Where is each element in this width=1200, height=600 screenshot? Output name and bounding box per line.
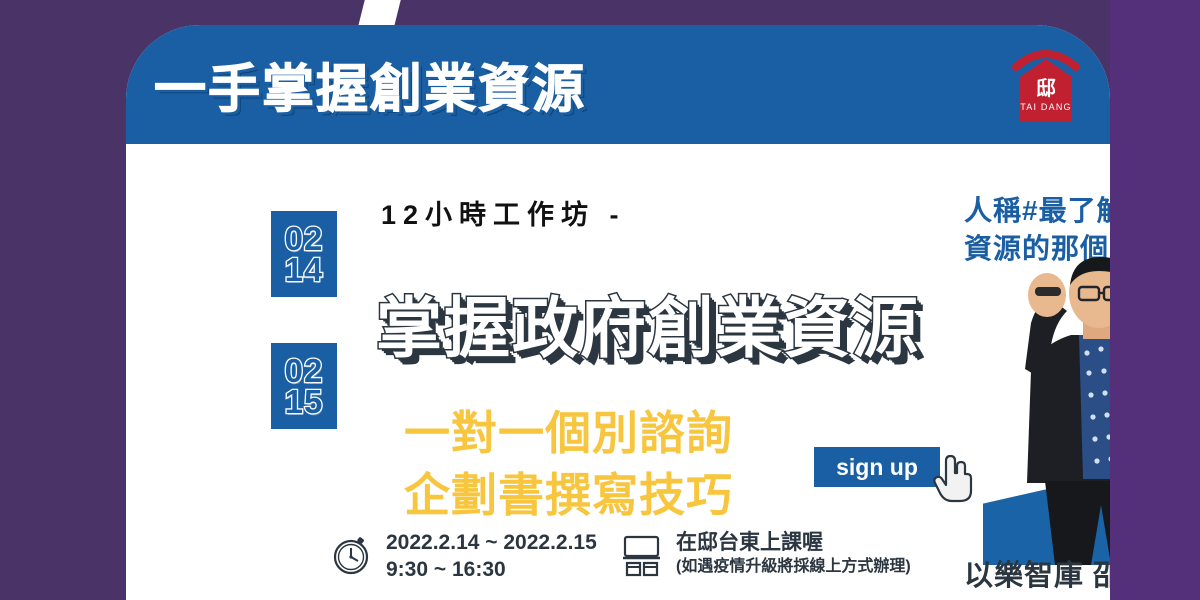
right-purple-stripe <box>1110 0 1200 600</box>
sign-up-button[interactable]: sign up <box>814 447 940 487</box>
tagline-line-1: 人稱#最了解政府 <box>964 189 1110 229</box>
schedule-info-block: 2022.2.14 ~ 2022.2.15 9:30 ~ 16:30 <box>330 530 597 585</box>
poster-card: 一手掌握創業資源 邸 TAI DANG 人稱#最了解政府 資源的那個男人! <box>126 25 1110 600</box>
workshop-kicker: 12小時工作坊 - <box>381 193 626 232</box>
schedule-info-text: 2022.2.14 ~ 2022.2.15 9:30 ~ 16:30 <box>386 530 597 585</box>
feature-line-1: 一對一個別諮詢 <box>404 397 733 463</box>
svg-text:邸: 邸 <box>1036 77 1056 100</box>
classroom-icon <box>620 530 664 580</box>
header-title: 一手掌握創業資源 <box>154 47 586 122</box>
speaker-photo <box>971 253 1110 565</box>
speaker-name: 以樂智庫 邵文正執行長 <box>964 552 1110 594</box>
schedule-hours: 9:30 ~ 16:30 <box>386 556 597 584</box>
venue-note: (如遇疫情升級將採線上方式辦理) <box>676 556 911 578</box>
clock-icon <box>330 530 374 580</box>
venue-info-block: 在邸台東上課喔 (如遇疫情升級將採線上方式辦理) <box>620 530 911 580</box>
classroom-glyph <box>620 530 664 580</box>
promotional-poster: 一手掌握創業資源 邸 TAI DANG 人稱#最了解政府 資源的那個男人! <box>0 0 1200 600</box>
date-badge-month: 02 <box>285 355 324 386</box>
clock-glyph <box>330 530 374 580</box>
date-badge-day: 14 <box>285 254 324 285</box>
venue-info-text: 在邸台東上課喔 (如遇疫情升級將採線上方式辦理) <box>676 530 911 578</box>
date-badge-day: 15 <box>285 386 324 417</box>
schedule-dates: 2022.2.14 ~ 2022.2.15 <box>386 530 597 556</box>
date-badge-month: 02 <box>285 223 324 254</box>
tai-dang-house-logo: 邸 TAI DANG <box>998 37 1094 133</box>
venue-name: 在邸台東上課喔 <box>676 530 911 556</box>
date-badge-first: 02 14 <box>271 211 337 297</box>
pointing-hand-cursor-icon <box>932 453 976 505</box>
date-badge-second: 02 15 <box>271 343 337 429</box>
top-white-slash-accent <box>358 0 402 28</box>
tai-dang-house-logo-icon: 邸 TAI DANG <box>998 37 1094 133</box>
header-band: 一手掌握創業資源 邸 TAI DANG <box>126 25 1110 144</box>
speaker-illustration-icon <box>971 253 1110 565</box>
svg-text:TAI DANG: TAI DANG <box>1020 102 1071 112</box>
feature-line-2: 企劃書撰寫技巧 <box>404 459 733 525</box>
hand-cursor-glyph <box>932 453 976 505</box>
main-headline: 掌握政府創業資源 <box>376 275 920 371</box>
